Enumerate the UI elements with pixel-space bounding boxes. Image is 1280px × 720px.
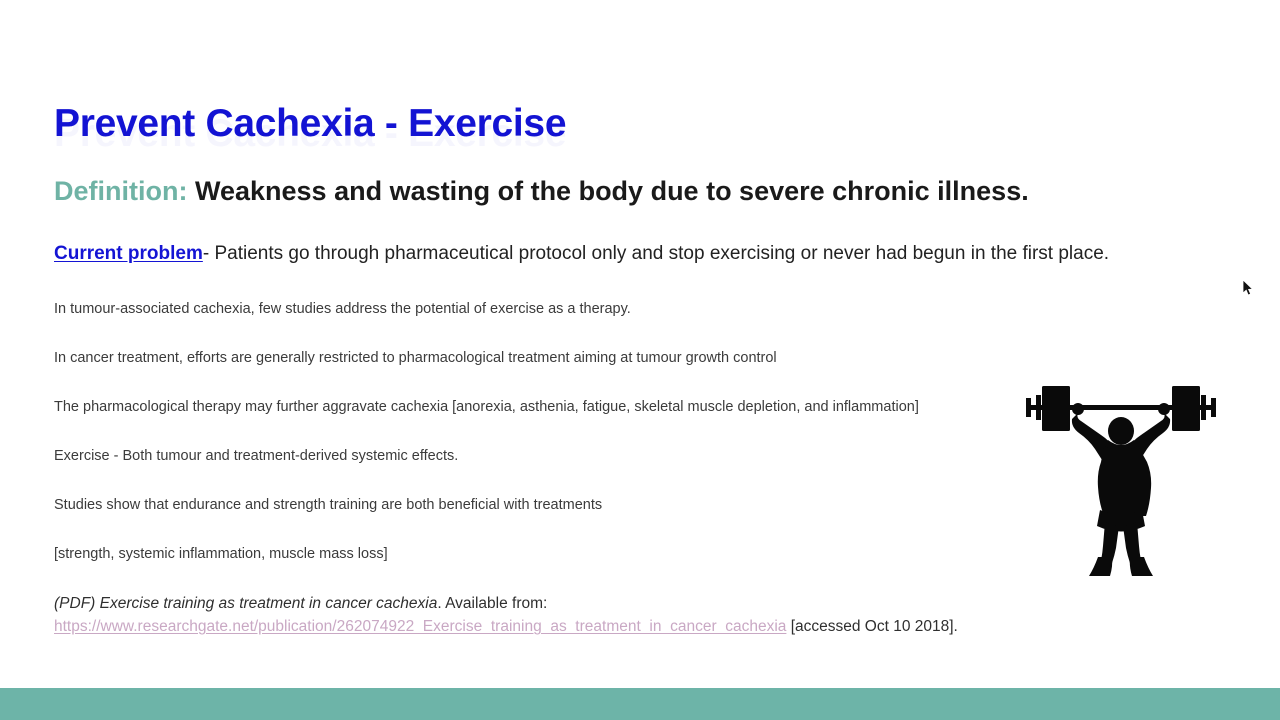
citation-accessed-text: [accessed Oct 10 2018]. [786,618,957,635]
mouse-cursor-icon [1243,280,1255,298]
current-problem-text: - Patients go through pharmaceutical pro… [203,243,1109,264]
citation-block: (PDF) Exercise training as treatment in … [54,592,958,638]
definition-label: Definition: [54,176,187,206]
weightlifter-silhouette-icon [1012,382,1230,578]
definition-text: Weakness and wasting of the body due to … [187,176,1028,206]
citation-source-line: (PDF) Exercise training as treatment in … [54,592,958,615]
slide-canvas: Prevent Cachexia - Exercise Prevent Cach… [0,0,1280,720]
bottom-accent-bar [0,688,1280,720]
page-title: Prevent Cachexia - Exercise [54,102,566,146]
citation-available-text: . Available from: [437,595,547,612]
current-problem-label[interactable]: Current problem [54,243,203,264]
citation-url-link[interactable]: https://www.researchgate.net/publication… [54,618,786,635]
body-line: In tumour-associated cachexia, few studi… [54,298,1204,347]
citation-source-title: (PDF) Exercise training as treatment in … [54,595,437,612]
definition-line: Definition: Weakness and wasting of the … [54,176,1029,207]
current-problem-line: Current problem- Patients go through pha… [54,243,1109,265]
citation-url-line: https://www.researchgate.net/publication… [54,615,958,638]
